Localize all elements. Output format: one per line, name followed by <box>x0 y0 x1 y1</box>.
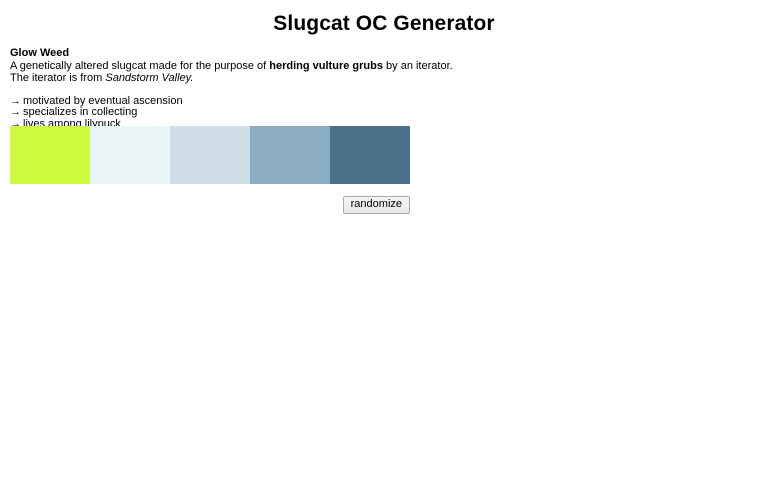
oc-description-prefix: A genetically altered slugcat made for t… <box>10 60 269 72</box>
oc-card: Glow Weed A genetically altered slugcat … <box>10 46 758 130</box>
color-swatch <box>90 126 170 184</box>
oc-name: Glow Weed <box>10 46 758 60</box>
oc-description-suffix: by an iterator. <box>383 60 453 72</box>
color-swatch <box>10 126 90 184</box>
color-swatch <box>250 126 330 184</box>
oc-iterator-region: Sandstorm Valley. <box>105 72 193 84</box>
oc-description: A genetically altered slugcat made for t… <box>10 60 758 85</box>
oc-trait-list: →motivated by eventual ascension →specia… <box>10 85 758 131</box>
oc-iterator-prefix: The iterator is from <box>10 72 105 84</box>
color-swatch <box>170 126 250 184</box>
trait-label: motivated by eventual ascension <box>23 95 183 107</box>
controls-row: randomize <box>10 194 410 214</box>
color-swatch <box>330 126 410 184</box>
oc-description-line-2: The iterator is from Sandstorm Valley. <box>10 73 758 85</box>
list-item: →specializes in collecting <box>10 107 758 119</box>
color-palette <box>10 126 410 184</box>
oc-description-purpose: herding vulture grubs <box>269 60 383 72</box>
randomize-button[interactable]: randomize <box>343 196 410 214</box>
page-title: Slugcat OC Generator <box>0 12 768 36</box>
trait-label: specializes in collecting <box>23 106 137 118</box>
